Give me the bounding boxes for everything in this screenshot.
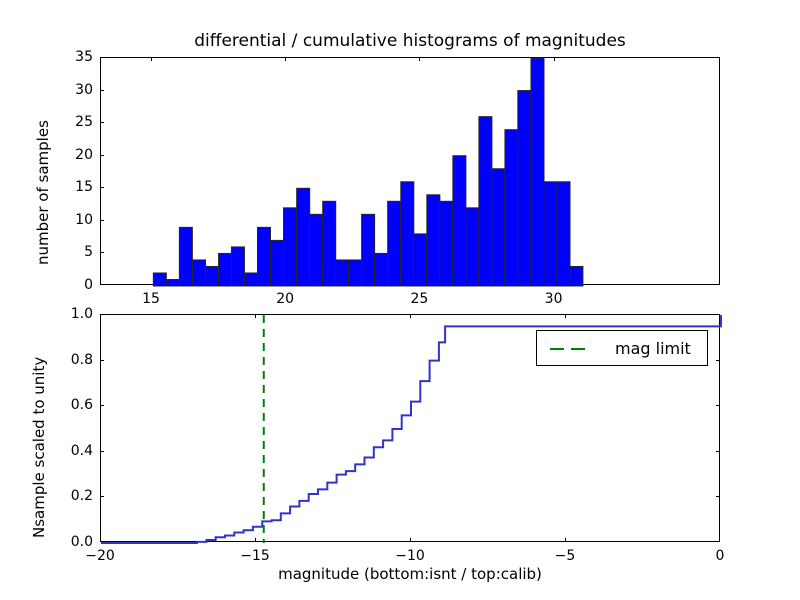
- top-y-tick-mark: [100, 252, 104, 253]
- top-x-tick-mark: [151, 57, 152, 61]
- bottom-y-tick-mark-right: [716, 360, 720, 361]
- top-y-tick-label: 0: [84, 277, 93, 293]
- legend-dash-icon: [571, 348, 585, 350]
- bottom-x-tick-label: −10: [395, 548, 425, 564]
- bottom-y-tick-mark: [100, 360, 104, 361]
- top-y-tick-label: 15: [75, 179, 93, 195]
- bottom-x-tick-label: −20: [85, 548, 115, 564]
- bottom-x-tick-mark: [255, 538, 256, 542]
- legend-dash-icon: [550, 348, 564, 350]
- bottom-y-tick-mark: [100, 496, 104, 497]
- top-y-tick-label: 20: [75, 147, 93, 163]
- top-y-tick-label: 5: [84, 244, 93, 260]
- differential-histogram-plot: [101, 58, 721, 286]
- bottom-x-tick-mark: [410, 538, 411, 542]
- top-x-tick-label: 20: [276, 291, 294, 307]
- bottom-y-tick-mark-right: [716, 451, 720, 452]
- top-y-tick-label: 35: [75, 49, 93, 65]
- matplotlib-figure: differential / cumulative histograms of …: [0, 0, 800, 600]
- bottom-y-tick-mark: [100, 405, 104, 406]
- bottom-y-tick-label: 0.2: [71, 488, 93, 504]
- bottom-x-axis-label: magnitude (bottom:isnt / top:calib): [100, 565, 720, 583]
- top-y-axis-label: number of samples: [34, 120, 52, 265]
- top-y-tick-label: 30: [75, 82, 93, 98]
- top-x-tick-label: 30: [545, 291, 563, 307]
- bottom-x-tick-mark-top: [255, 314, 256, 318]
- figure-title: differential / cumulative histograms of …: [100, 31, 720, 51]
- bottom-x-tick-label: 0: [716, 548, 725, 564]
- top-y-tick-mark: [100, 122, 104, 123]
- bottom-y-axis-label: Nsample scaled to unity: [30, 357, 48, 538]
- top-x-tick-mark: [554, 57, 555, 61]
- bottom-x-tick-label: −15: [240, 548, 270, 564]
- top-y-tick-mark: [100, 220, 104, 221]
- legend: mag limit: [536, 330, 708, 366]
- top-y-tick-mark: [100, 155, 104, 156]
- bottom-y-tick-mark-right: [716, 496, 720, 497]
- legend-entry-mag-limit: mag limit: [615, 339, 691, 358]
- top-y-tick-mark: [100, 90, 104, 91]
- top-y-tick-label: 25: [75, 114, 93, 130]
- bottom-y-tick-label: 0.6: [71, 397, 93, 413]
- bottom-x-tick-mark-top: [410, 314, 411, 318]
- bottom-y-tick-mark: [100, 451, 104, 452]
- bottom-y-tick-label: 1.0: [71, 306, 93, 322]
- top-x-tick-label: 15: [142, 291, 160, 307]
- top-x-tick-mark: [285, 57, 286, 61]
- differential-histogram-axes: [100, 57, 720, 285]
- bottom-x-tick-label: −5: [555, 548, 576, 564]
- bottom-y-tick-mark-right: [716, 405, 720, 406]
- top-x-tick-mark: [419, 57, 420, 61]
- bottom-y-tick-label: 0.8: [71, 352, 93, 368]
- bottom-x-tick-mark-top: [565, 314, 566, 318]
- bottom-x-tick-mark: [565, 538, 566, 542]
- bottom-y-tick-label: 0.4: [71, 443, 93, 459]
- top-y-tick-mark: [100, 187, 104, 188]
- top-x-tick-label: 25: [410, 291, 428, 307]
- top-y-tick-label: 10: [75, 212, 93, 228]
